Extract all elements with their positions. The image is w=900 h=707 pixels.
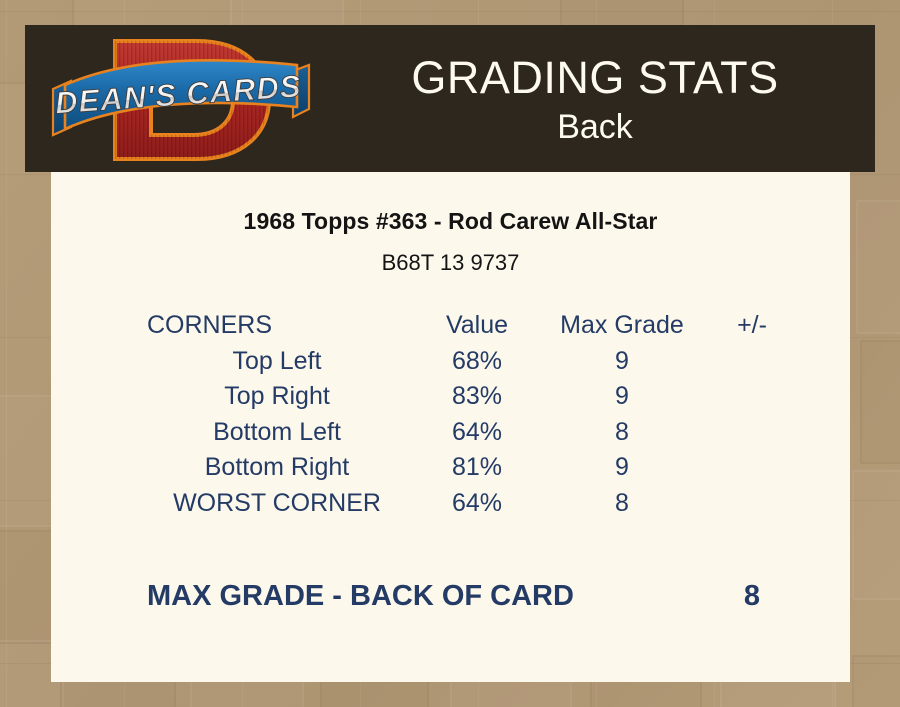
- card-code: B68T 13 9737: [51, 250, 850, 276]
- row-plus-minus-top-right: [697, 379, 807, 415]
- logo-ribbon: DEAN'S CARDS: [53, 60, 309, 135]
- page-subtitle: Back: [557, 107, 633, 147]
- row-value-top-left: 68%: [407, 344, 547, 380]
- row-plus-minus-top-left: [697, 344, 807, 380]
- row-plus-minus-bottom-right: [697, 450, 807, 486]
- row-value-worst-corner: 64%: [407, 486, 547, 522]
- column-header-value: Value: [407, 308, 547, 344]
- row-value-top-right: 83%: [407, 379, 547, 415]
- row-label-worst-corner: WORST CORNER: [147, 486, 407, 522]
- table-row: Top Left 68% 9: [147, 344, 807, 380]
- column-header-max-grade: Max Grade: [547, 308, 697, 344]
- table-body: Top Left 68% 9 Top Right 83% 9 Bottom Le…: [147, 344, 807, 522]
- row-max-grade-bottom-left: 8: [547, 415, 697, 451]
- corners-stats-table: CORNERS Value Max Grade +/- Top Left 68%…: [147, 308, 807, 521]
- content-panel: 1968 Topps #363 - Rod Carew All-Star B68…: [51, 172, 850, 682]
- row-label-top-right: Top Right: [147, 379, 407, 415]
- row-value-bottom-right: 81%: [407, 450, 547, 486]
- header-title-block: GRADING STATS Back: [315, 25, 875, 172]
- row-max-grade-worst-corner: 8: [547, 486, 697, 522]
- row-label-top-left: Top Left: [147, 344, 407, 380]
- row-plus-minus-bottom-left: [697, 415, 807, 451]
- table-header-row: CORNERS Value Max Grade +/-: [147, 308, 807, 344]
- table-row: Top Right 83% 9: [147, 379, 807, 415]
- deans-cards-logo[interactable]: DEAN'S CARDS: [47, 31, 312, 169]
- table-row: Bottom Right 81% 9: [147, 450, 807, 486]
- page-title: GRADING STATS: [411, 51, 778, 105]
- header-bar: DEAN'S CARDS GRADING STATS Back: [25, 25, 875, 172]
- max-grade-summary: MAX GRADE - BACK OF CARD 8: [147, 580, 807, 613]
- row-max-grade-top-right: 9: [547, 379, 697, 415]
- table-row: Bottom Left 64% 8: [147, 415, 807, 451]
- row-max-grade-top-left: 9: [547, 344, 697, 380]
- max-grade-summary-value: 8: [697, 580, 807, 613]
- card-title: 1968 Topps #363 - Rod Carew All-Star: [51, 208, 850, 235]
- table-header: CORNERS Value Max Grade +/-: [147, 308, 807, 344]
- row-label-bottom-left: Bottom Left: [147, 415, 407, 451]
- grading-stats-page: DEAN'S CARDS GRADING STATS Back 1968 Top…: [0, 0, 900, 707]
- row-plus-minus-worst-corner: [697, 486, 807, 522]
- row-label-bottom-right: Bottom Right: [147, 450, 407, 486]
- row-max-grade-bottom-right: 9: [547, 450, 697, 486]
- table-row-worst-corner: WORST CORNER 64% 8: [147, 486, 807, 522]
- column-header-corners: CORNERS: [147, 308, 407, 344]
- row-value-bottom-left: 64%: [407, 415, 547, 451]
- column-header-plus-minus: +/-: [697, 308, 807, 344]
- max-grade-summary-label: MAX GRADE - BACK OF CARD: [147, 580, 697, 613]
